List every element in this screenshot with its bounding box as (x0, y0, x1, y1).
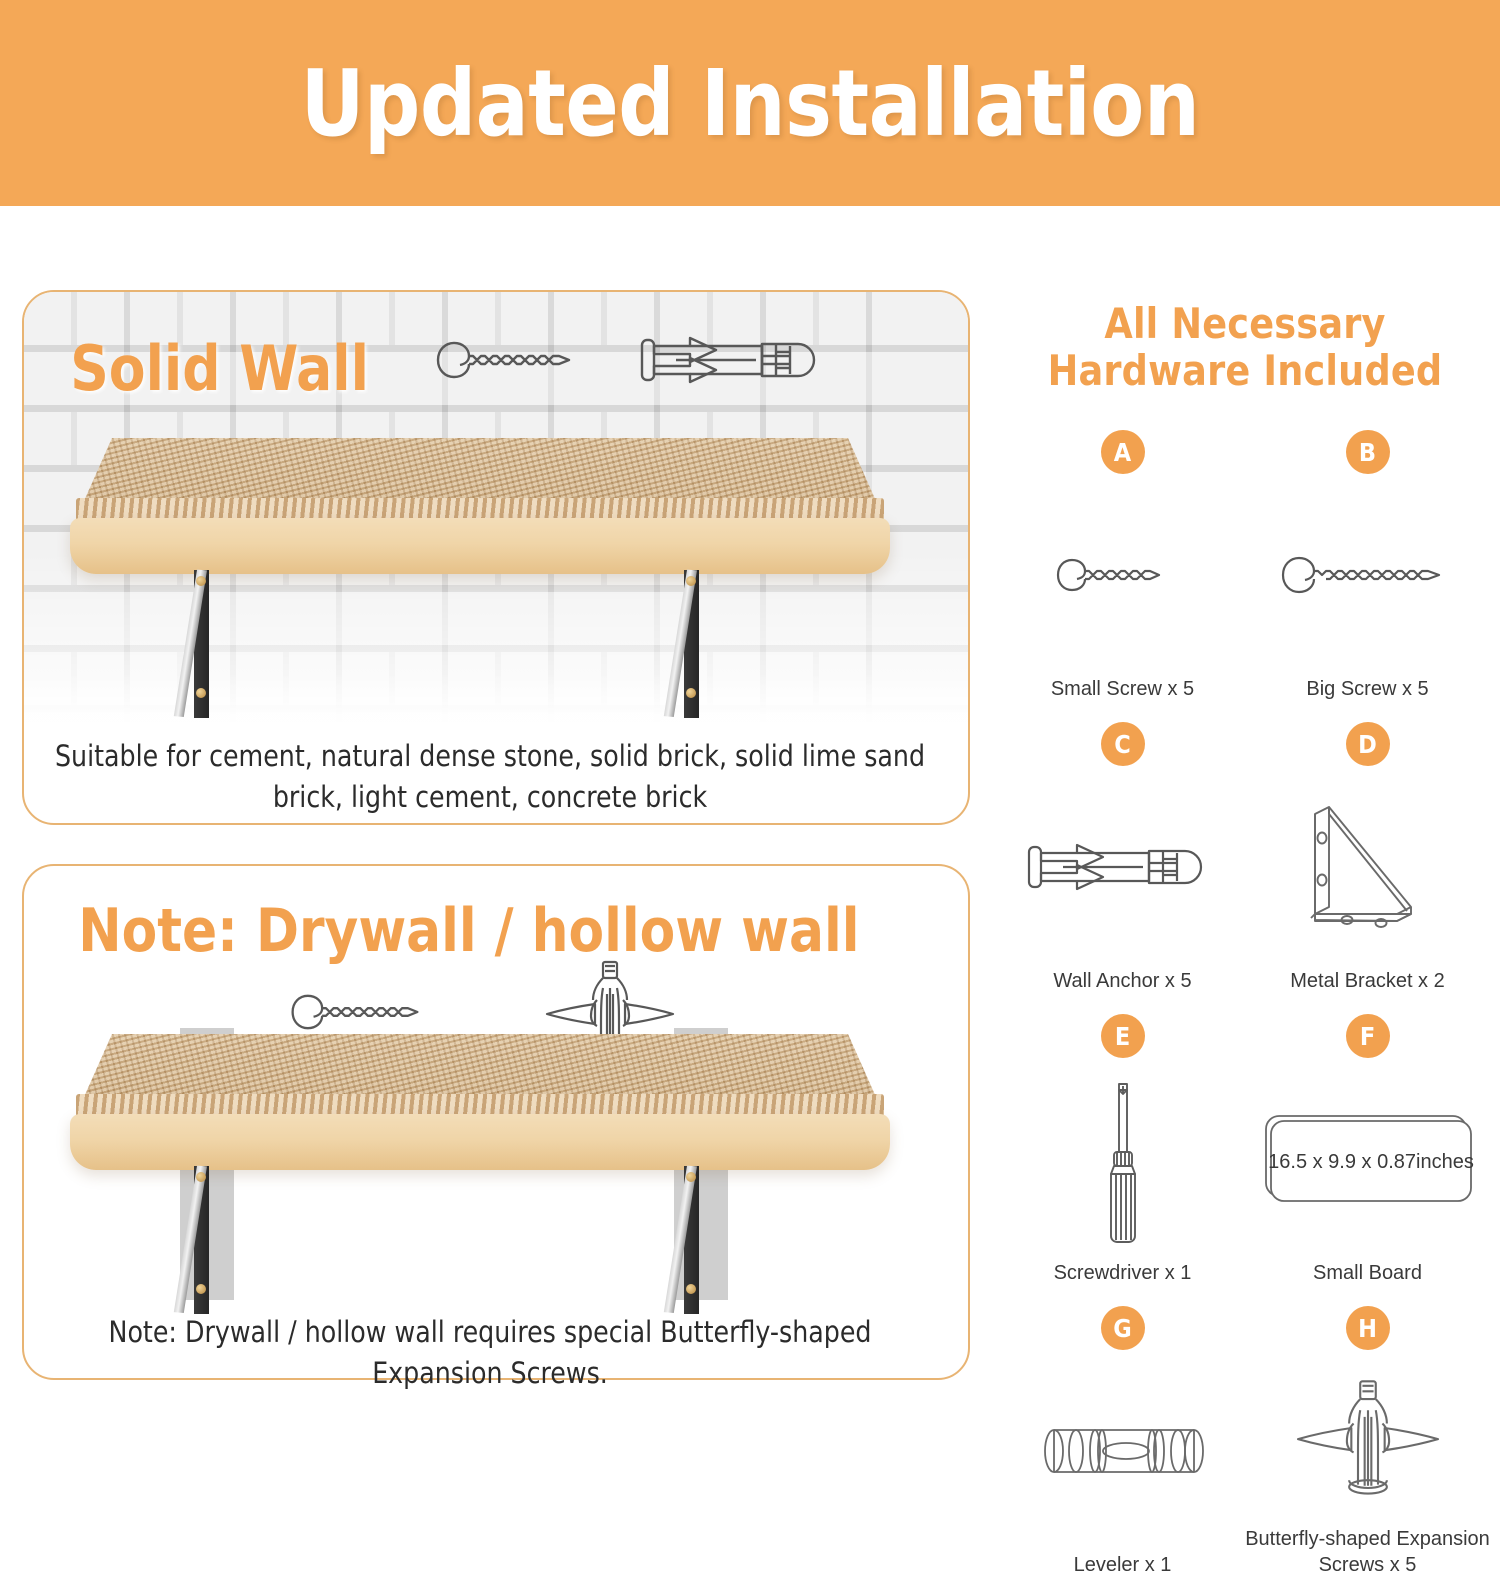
hardware-label-small-board: Small Board (1313, 1260, 1422, 1290)
small-board-dimensions: 16.5 x 9.9 x 0.87inches (1268, 1151, 1474, 1173)
badge-letter-f: F (1346, 1014, 1390, 1058)
hardware-title-line2: Hardware Included (1007, 347, 1482, 394)
big-screw-icon (1245, 474, 1490, 676)
metal-bracket-right (684, 1166, 708, 1314)
hardware-label-leveler: Leveler x 1 (1074, 1552, 1172, 1582)
shelf-product-solid-wall (62, 432, 902, 692)
hardware-item-wall-anchor: C Wall Anchor x 5 (1000, 722, 1245, 998)
hardware-list: All Necessary Hardware Included A Small … (1000, 300, 1490, 1582)
hardware-item-big-screw: B Big Screw x 5 (1245, 430, 1490, 706)
hardware-item-butterfly-expansion-screw: H Butterfl (1245, 1306, 1490, 1582)
drywall-heading: Note: Drywall / hollow wall (78, 896, 859, 966)
solid-wall-heading: Solid Wall (70, 332, 369, 405)
hardware-item-screwdriver: E Screwdriver x 1 (1000, 1014, 1245, 1290)
screwdriver-icon (1000, 1058, 1245, 1260)
hardware-label-metal-bracket: Metal Bracket x 2 (1290, 968, 1445, 998)
hardware-list-title: All Necessary Hardware Included (1007, 300, 1482, 394)
badge-letter-e: E (1101, 1014, 1145, 1058)
wall-anchor-icon (1000, 766, 1245, 968)
butterfly-expansion-screw-icon (1245, 1350, 1490, 1526)
metal-bracket-left (194, 570, 218, 718)
badge-letter-b: B (1346, 430, 1390, 474)
hardware-label-screwdriver: Screwdriver x 1 (1054, 1260, 1192, 1290)
hardware-label-big-screw: Big Screw x 5 (1306, 676, 1428, 706)
metal-bracket-icon (1245, 766, 1490, 968)
small-screw-icon (1000, 474, 1245, 676)
hardware-label-butterfly-expansion-screw: Butterfly-shaped Expansion Screws x 5 (1245, 1526, 1490, 1582)
screw-icon (430, 332, 598, 388)
solid-wall-icon-row (430, 330, 836, 390)
page-title: Updated Installation (301, 50, 1200, 157)
hardware-item-small-screw: A Small Screw x 5 (1000, 430, 1245, 706)
wood-shelf-board (70, 1114, 890, 1170)
small-board-icon: 16.5 x 9.9 x 0.87inches (1245, 1058, 1490, 1260)
hardware-label-wall-anchor: Wall Anchor x 5 (1053, 968, 1191, 998)
metal-bracket-left (194, 1166, 218, 1314)
hardware-item-leveler: G Leveler (1000, 1306, 1245, 1582)
hardware-label-small-screw: Small Screw x 5 (1051, 676, 1194, 706)
header-band: Updated Installation (0, 0, 1500, 206)
badge-letter-c: C (1101, 722, 1145, 766)
hardware-item-small-board: F 16.5 x 9.9 x 0.87inches Small Board (1245, 1014, 1490, 1290)
badge-letter-h: H (1346, 1306, 1390, 1350)
leveler-icon (1000, 1350, 1245, 1552)
badge-letter-d: D (1346, 722, 1390, 766)
wood-shelf-board (70, 518, 890, 574)
badge-letter-g: G (1101, 1306, 1145, 1350)
drywall-caption: Note: Drywall / hollow wall requires spe… (54, 1312, 927, 1394)
wall-anchor-icon (636, 330, 836, 390)
shelf-product-drywall (62, 1028, 902, 1298)
hardware-title-line1: All Necessary (1007, 300, 1482, 347)
solid-wall-caption: Suitable for cement, natural dense stone… (54, 736, 927, 818)
metal-bracket-right (684, 570, 708, 718)
hardware-item-metal-bracket: D (1245, 722, 1490, 998)
badge-letter-a: A (1101, 430, 1145, 474)
